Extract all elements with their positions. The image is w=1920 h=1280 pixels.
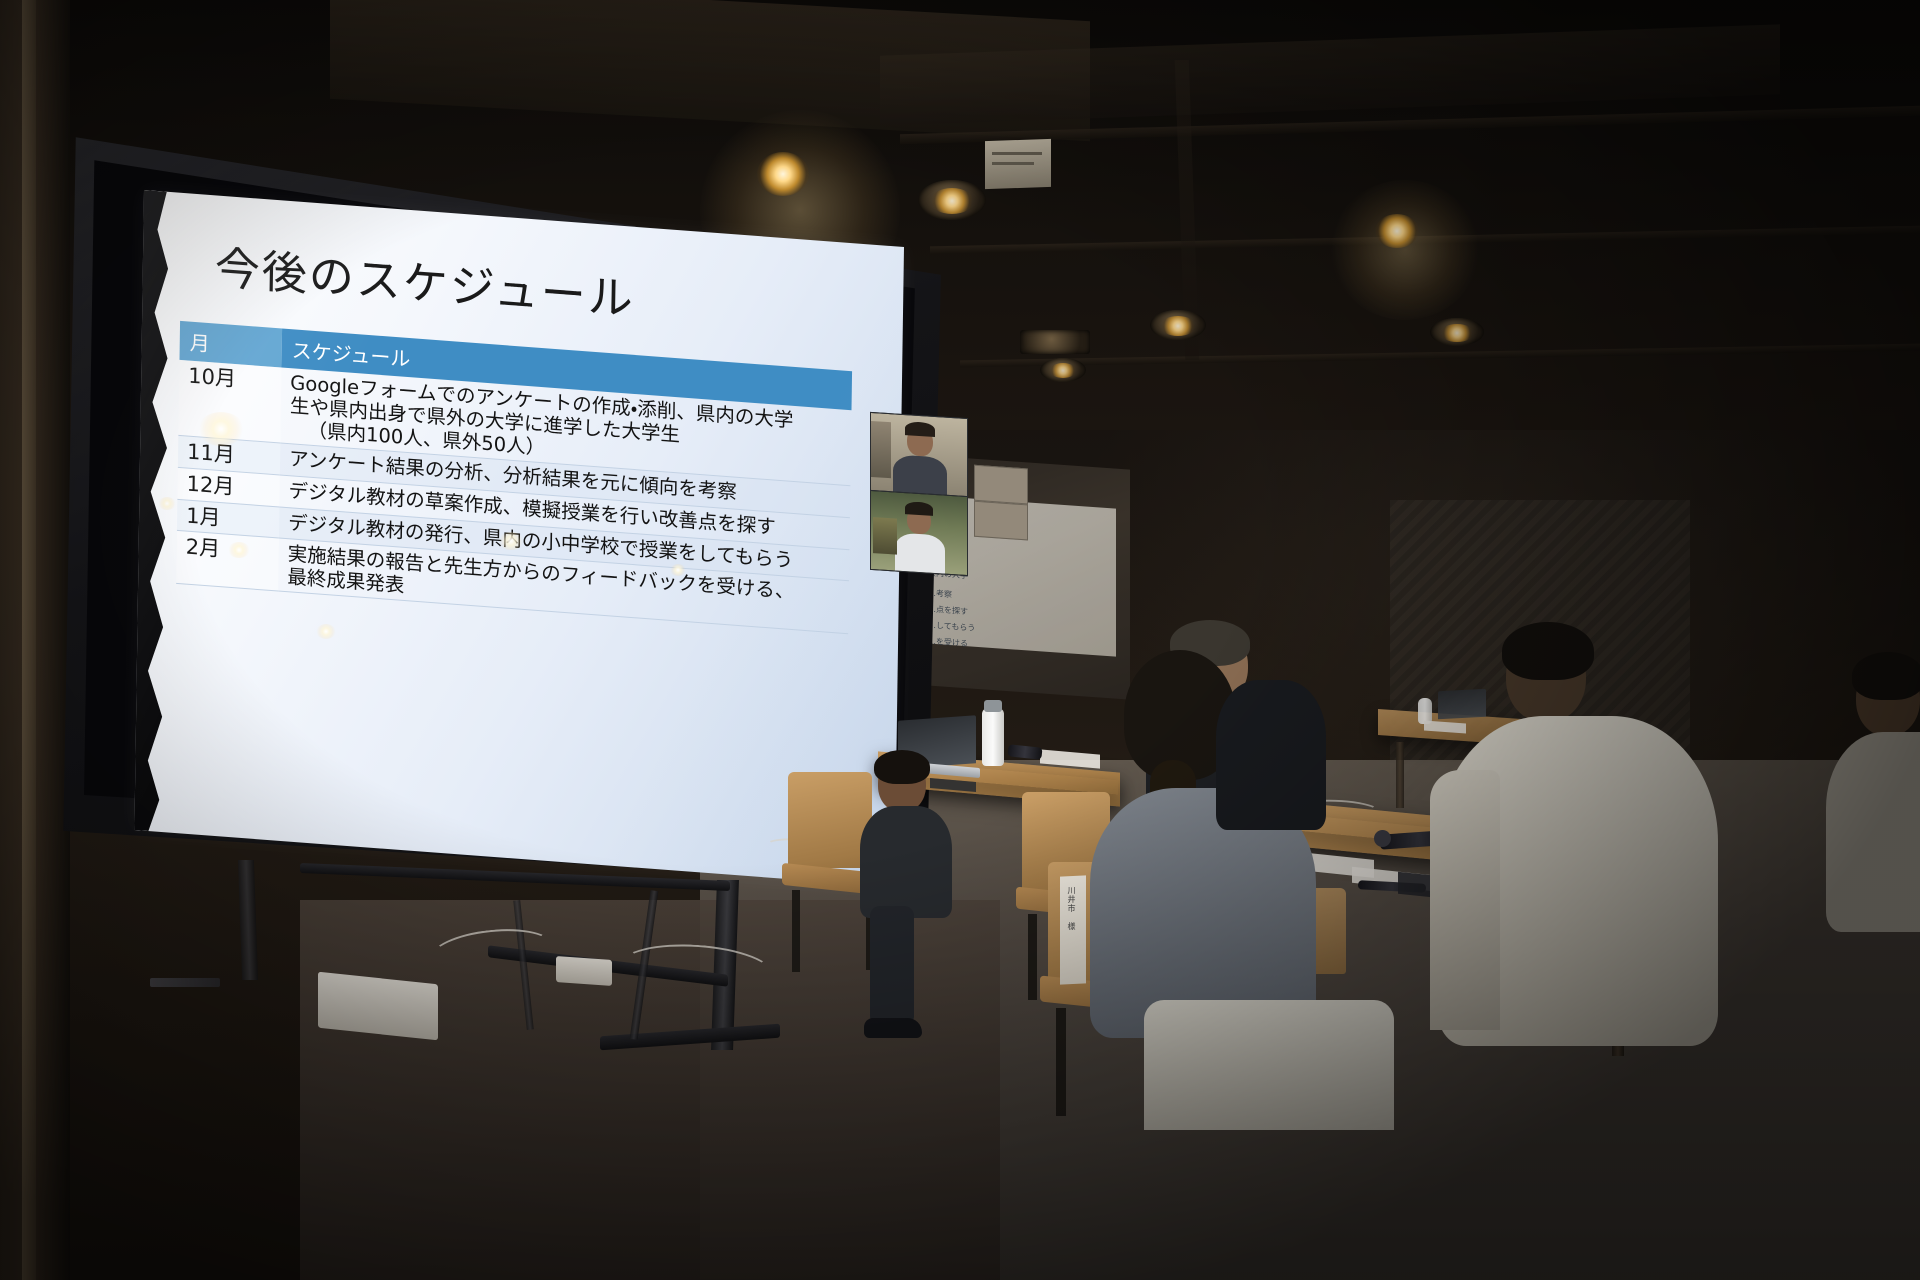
chair-leg [1056,1008,1066,1116]
downlight-halo [1330,180,1480,320]
chair-leg [792,890,800,972]
person-shoe [864,1018,922,1038]
bottle-cap [984,700,1002,712]
person-torso [1826,732,1920,932]
video-call-thumb-top[interactable] [870,412,968,498]
projected-video-thumb [974,501,1028,541]
speaker-box [1020,330,1090,354]
participant-body [895,532,945,573]
left-wall-strip [22,0,36,1280]
video-thumb-shelf [873,517,897,555]
ceiling-panel-line [992,162,1034,165]
schedule-table: 月 スケジュール 10月 Googleフォームでのアンケートの作成・添削、県内の… [176,321,852,635]
slide-title: 今後のスケジュール [214,231,635,327]
person-hair [874,750,930,784]
microphone-head [1374,830,1391,847]
display-brand-logo [150,978,220,987]
downlight [1440,324,1474,342]
person-leg [870,906,914,1026]
name-placard-text: 川井市 様 [1066,886,1077,931]
person-hair [1852,652,1920,700]
row-month: 10月 [178,360,281,443]
floor-cable-box-small [556,956,612,986]
person-arm [1430,770,1500,1030]
person-lower [1144,1000,1394,1130]
downlight [1049,363,1077,378]
person-hair [1502,622,1594,680]
person-torso [1216,680,1326,830]
downlight [1160,316,1196,336]
laptop-lid-back [1438,689,1486,720]
video-call-thumb-bottom[interactable] [870,490,968,576]
room-photo: 県内の大学 …考察 …点を探す …してもらう …を受ける 今後のスケジュール 月… [0,0,1920,1280]
water-bottle [982,708,1004,766]
ceiling-panel-line [992,152,1042,155]
person-torso [860,806,952,918]
chair-leg [1028,914,1037,1000]
projected-video-thumb [974,465,1028,505]
video-thumb-shelf [871,421,891,478]
row-month: 2月 [176,531,279,592]
downlight [1375,214,1419,248]
table-leg [1396,742,1404,808]
